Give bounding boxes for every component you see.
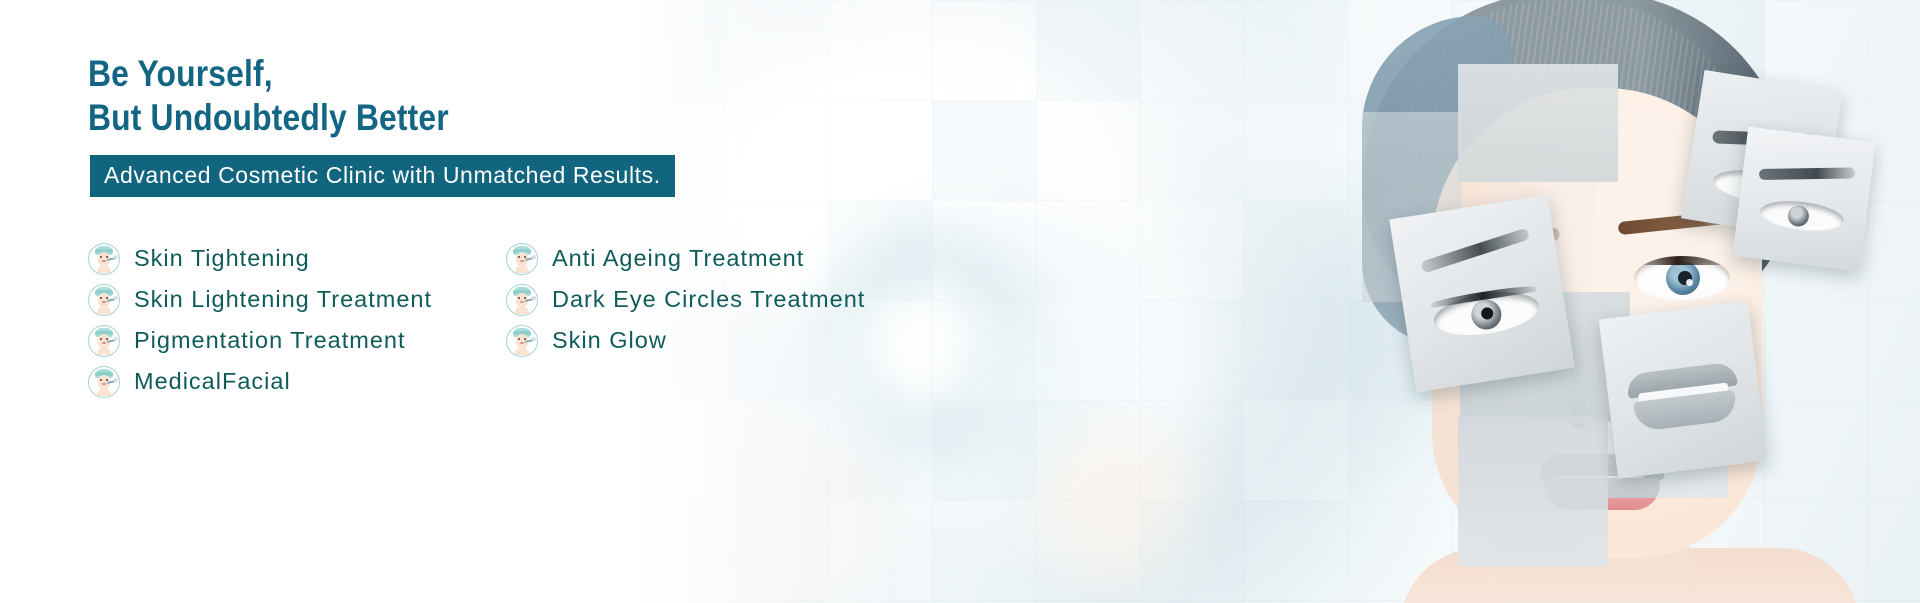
hero-banner: Be Yourself, But Undoubtedly Better Adva… — [0, 0, 1920, 603]
right-eye — [1634, 256, 1730, 300]
list-item[interactable]: Anti Ageing Treatment — [506, 238, 976, 279]
facial-treatment-icon — [506, 243, 538, 275]
grayscale-patch-chin — [1458, 416, 1608, 566]
services-right-column: Anti Ageing Treatment Dark Eye Circles T… — [506, 238, 976, 361]
facial-treatment-icon — [88, 243, 120, 275]
list-item-label: Skin Tightening — [134, 245, 310, 272]
cheek-photo-card — [1733, 127, 1876, 272]
subtitle-text: Advanced Cosmetic Clinic with Unmatched … — [104, 162, 661, 189]
list-item[interactable]: MedicalFacial — [88, 361, 508, 402]
list-item[interactable]: Skin Glow — [506, 320, 976, 361]
banner-content: Be Yourself, But Undoubtedly Better Adva… — [88, 0, 988, 603]
facial-treatment-icon — [88, 325, 120, 357]
list-item-label: Pigmentation Treatment — [134, 327, 406, 354]
headline-line-2: But Undoubtedly Better — [88, 96, 793, 140]
list-item[interactable]: Dark Eye Circles Treatment — [506, 279, 976, 320]
facial-treatment-icon — [506, 284, 538, 316]
facial-treatment-icon — [88, 284, 120, 316]
facial-treatment-icon — [506, 325, 538, 357]
list-item[interactable]: Skin Lightening Treatment — [88, 279, 508, 320]
list-item-label: Dark Eye Circles Treatment — [552, 286, 865, 313]
portrait-image — [1280, 0, 1920, 603]
list-item[interactable]: Pigmentation Treatment — [88, 320, 508, 361]
subtitle-banner: Advanced Cosmetic Clinic with Unmatched … — [90, 155, 675, 197]
services-left-column: Skin Tightening Skin Lightening Treatmen… — [88, 238, 508, 402]
headline-line-1: Be Yourself, — [88, 52, 793, 96]
list-item-label: Skin Glow — [552, 327, 667, 354]
list-item-label: Skin Lightening Treatment — [134, 286, 432, 313]
list-item[interactable]: Skin Tightening — [88, 238, 508, 279]
lips-photo-card — [1599, 301, 1767, 478]
eye-photo-card — [1389, 195, 1574, 393]
facial-treatment-icon — [88, 366, 120, 398]
list-item-label: Anti Ageing Treatment — [552, 245, 804, 272]
grayscale-patch-forehead — [1458, 64, 1618, 182]
list-item-label: MedicalFacial — [134, 368, 291, 395]
page-title: Be Yourself, But Undoubtedly Better — [88, 52, 793, 140]
